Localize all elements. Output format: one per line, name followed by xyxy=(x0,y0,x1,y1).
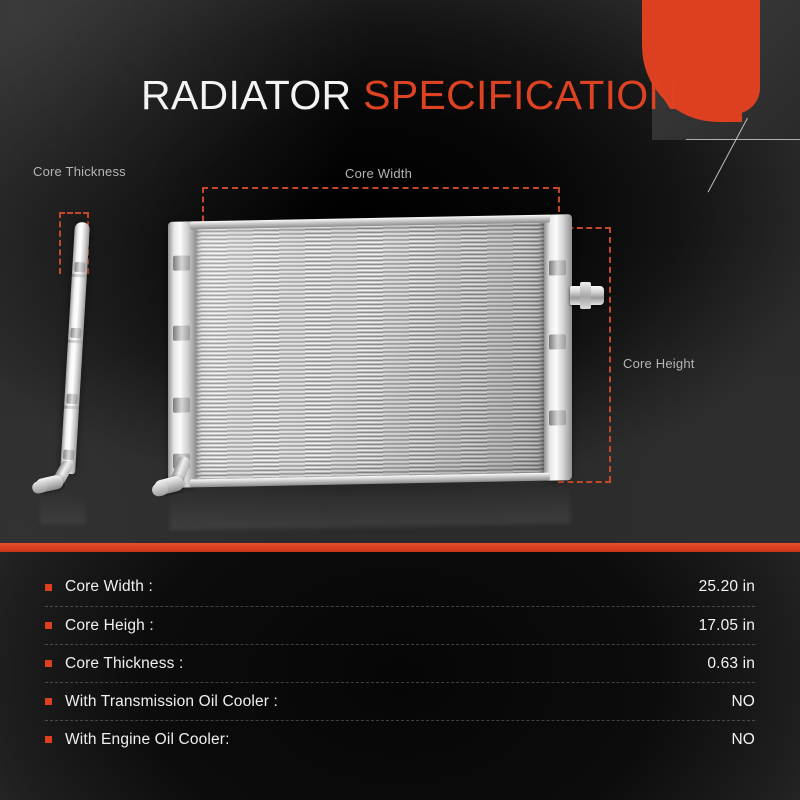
radiator-tank-right xyxy=(544,214,572,481)
hero-section: RADIATOR SPECIFICATION xyxy=(0,0,800,543)
dimension-label-core-height: Core Height xyxy=(623,356,695,371)
spec-row: With Engine Oil Cooler:NO xyxy=(45,720,755,758)
corner-horizontal-hairline-decoration xyxy=(686,139,800,140)
tank-notch xyxy=(549,410,566,425)
spec-row: Core Thickness :0.63 in xyxy=(45,644,755,682)
dimension-label-core-width: Core Width xyxy=(345,166,412,181)
radiator-side-body xyxy=(60,222,90,474)
core-thickness-guide-left xyxy=(59,212,61,274)
corner-red-blob-secondary-decoration xyxy=(708,0,760,114)
spec-row: Core Width :25.20 in xyxy=(45,568,755,606)
radiator-side-clip xyxy=(66,394,78,405)
dimension-label-core-thickness: Core Thickness xyxy=(33,164,126,179)
core-height-guide-vertical xyxy=(609,227,611,482)
tank-notch xyxy=(549,260,566,275)
bullet-square-icon xyxy=(45,698,52,705)
spec-label: Core Width : xyxy=(65,578,153,596)
radiator-tank-left xyxy=(168,221,196,488)
spec-value: 25.20 in xyxy=(699,578,755,596)
radiator-front-reflection xyxy=(170,484,570,531)
radiator-side-reflection xyxy=(40,492,86,524)
radiator-front-view xyxy=(168,214,572,488)
tank-notch xyxy=(173,325,190,340)
radiator-core-fins xyxy=(194,219,546,484)
spec-row: Core Heigh :17.05 in xyxy=(45,606,755,644)
radiator-specification-page: RADIATOR SPECIFICATION xyxy=(0,0,800,800)
specification-rows: Core Width :25.20 inCore Heigh :17.05 in… xyxy=(0,552,800,758)
bullet-square-icon xyxy=(45,584,52,591)
tank-notch xyxy=(173,397,190,412)
page-title-accent: SPECIFICATION xyxy=(363,72,678,118)
core-width-guide-top xyxy=(202,187,559,189)
spec-label: With Transmission Oil Cooler : xyxy=(65,693,278,711)
page-title: RADIATOR SPECIFICATION xyxy=(141,72,678,119)
bullet-square-icon xyxy=(45,660,52,667)
page-title-primary: RADIATOR xyxy=(141,72,351,118)
bullet-square-icon xyxy=(45,622,52,629)
bullet-square-icon xyxy=(45,736,52,743)
red-divider-bar xyxy=(0,543,800,552)
specification-table: Core Width :25.20 inCore Heigh :17.05 in… xyxy=(0,552,800,800)
radiator-side-clip xyxy=(63,450,75,461)
spec-value: 17.05 in xyxy=(699,617,755,635)
tank-notch xyxy=(549,334,566,349)
spec-label: With Engine Oil Cooler: xyxy=(65,731,230,749)
spec-label: Core Heigh : xyxy=(65,617,154,635)
spec-value: NO xyxy=(731,693,755,711)
radiator-side-clip xyxy=(74,262,86,273)
spec-value: NO xyxy=(731,731,755,749)
radiator-side-fitting-nipple xyxy=(570,286,604,305)
core-thickness-guide-top xyxy=(59,212,89,214)
tank-notch xyxy=(173,255,190,270)
spec-label: Core Thickness : xyxy=(65,655,183,673)
radiator-core-gloss xyxy=(194,219,546,484)
radiator-side-view xyxy=(50,221,98,492)
spec-value: 0.63 in xyxy=(707,655,755,673)
radiator-side-outlet-port xyxy=(34,458,82,497)
radiator-side-clip xyxy=(70,328,82,339)
spec-row: With Transmission Oil Cooler :NO xyxy=(45,682,755,720)
